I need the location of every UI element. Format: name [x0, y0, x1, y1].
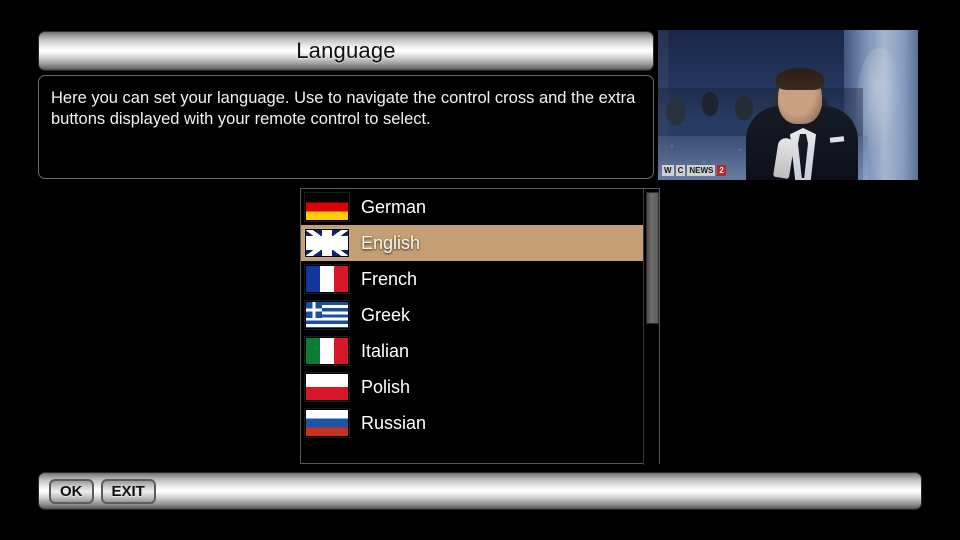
bottom-action-bar: OK EXIT: [38, 472, 922, 510]
channel-logo-part-3: NEWS: [687, 165, 715, 176]
list-item-label: Greek: [361, 305, 410, 326]
list-item-label: English: [361, 233, 420, 254]
list-item-label: Russian: [361, 413, 426, 434]
channel-logo-bug: W C NEWS 2: [662, 164, 726, 177]
exit-button-label: EXIT: [112, 483, 145, 500]
language-list-panel: German English French Greek Italian Poli: [300, 188, 660, 464]
flag-russia-icon: [305, 409, 349, 437]
flag-united-kingdom-icon: [305, 229, 349, 257]
flag-france-icon: [305, 265, 349, 293]
description-panel: Here you can set your language. Use to n…: [38, 75, 654, 179]
list-item-polish[interactable]: Polish: [301, 369, 643, 405]
list-item-label: Italian: [361, 341, 409, 362]
flag-greece-icon: [305, 301, 349, 329]
flag-germany-icon: [305, 193, 349, 221]
list-item-german[interactable]: German: [301, 189, 643, 225]
flag-italy-icon: [305, 337, 349, 365]
video-reporter-hair: [776, 68, 824, 90]
video-preview[interactable]: W C NEWS 2: [658, 30, 918, 180]
list-item-label: German: [361, 197, 426, 218]
ok-button[interactable]: OK: [49, 479, 94, 504]
list-scrollbar-thumb[interactable]: [646, 192, 659, 324]
page-title: Language: [296, 38, 395, 64]
channel-logo-part-1: W: [662, 165, 674, 176]
language-list: German English French Greek Italian Poli: [301, 189, 643, 465]
ok-button-label: OK: [60, 483, 83, 500]
tv-settings-screen: Language Here you can set your language.…: [0, 0, 960, 540]
exit-button[interactable]: EXIT: [101, 479, 156, 504]
channel-logo-part-4: 2: [717, 165, 725, 176]
channel-logo-part-2: C: [676, 165, 686, 176]
list-scrollbar[interactable]: [643, 189, 659, 465]
list-item-greek[interactable]: Greek: [301, 297, 643, 333]
description-text: Here you can set your language. Use to n…: [51, 88, 639, 130]
list-item-russian[interactable]: Russian: [301, 405, 643, 441]
list-item-english[interactable]: English: [301, 225, 643, 261]
list-item-label: French: [361, 269, 417, 290]
list-item-italian[interactable]: Italian: [301, 333, 643, 369]
list-item-label: Polish: [361, 377, 410, 398]
list-item-french[interactable]: French: [301, 261, 643, 297]
title-bar: Language: [38, 31, 654, 71]
flag-poland-icon: [305, 373, 349, 401]
